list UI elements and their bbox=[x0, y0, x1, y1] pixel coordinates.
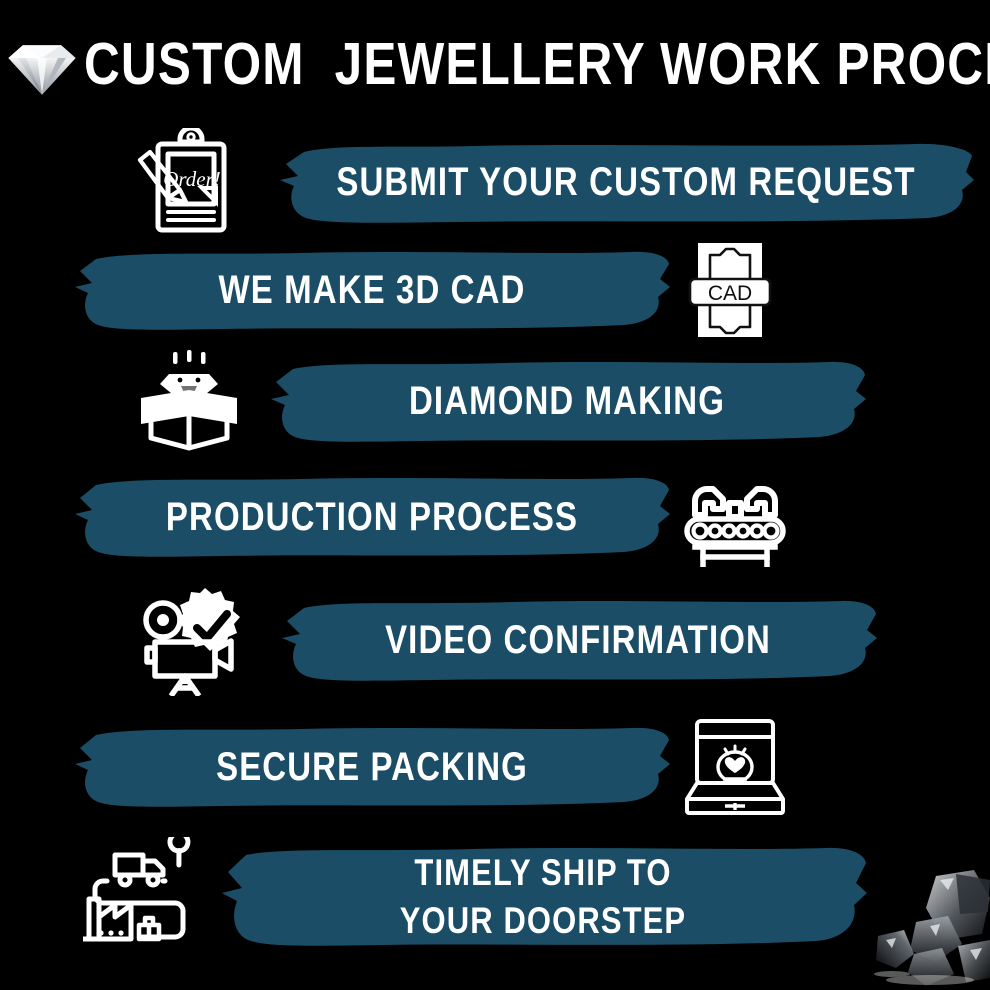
step-banner[interactable]: SUBMIT YOUR CUSTOM REQUEST bbox=[276, 132, 976, 232]
clipboard-order-icon: Order! bbox=[118, 128, 258, 236]
step-row: PRODUCTION PROCESS bbox=[0, 462, 990, 572]
step-row: VIDEO CONFIRMATION bbox=[0, 584, 990, 696]
step-label: SUBMIT YOUR CUSTOM REQUEST bbox=[336, 158, 915, 206]
clipboard-icon-text: Order! bbox=[163, 167, 221, 191]
step-row: TIMELY SHIP TO YOUR DOORSTEP bbox=[0, 832, 990, 962]
poster-header: CUSTOM JEWELLERY WORK PROCESS bbox=[0, 18, 990, 110]
step-banner[interactable]: SECURE PACKING bbox=[72, 717, 672, 817]
diamond-icon bbox=[2, 26, 82, 106]
cad-icon-text: CAD bbox=[708, 282, 752, 305]
step-label: WE MAKE 3D CAD bbox=[219, 266, 526, 314]
infographic-poster: CUSTOM JEWELLERY WORK PROCESS O bbox=[0, 0, 990, 990]
conveyor-robot-arms-icon bbox=[680, 467, 790, 567]
video-camera-check-icon bbox=[130, 584, 260, 696]
step-row: WE MAKE 3D CAD CAD bbox=[0, 236, 990, 344]
step-banner[interactable]: DIAMOND MAKING bbox=[267, 351, 867, 451]
step-label: VIDEO CONFIRMATION bbox=[385, 616, 771, 664]
step-banner[interactable]: PRODUCTION PROCESS bbox=[72, 467, 672, 567]
step-row: SECURE PACKING bbox=[0, 712, 990, 822]
step-row: Order! SUBMIT YOUR CUSTOM REQUEST bbox=[0, 128, 990, 236]
ring-box-icon bbox=[680, 717, 790, 817]
step-banner[interactable]: VIDEO CONFIRMATION bbox=[278, 590, 878, 690]
step-label: SECURE PACKING bbox=[216, 743, 528, 791]
step-label: TIMELY SHIP TO YOUR DOORSTEP bbox=[400, 849, 686, 946]
step-label: PRODUCTION PROCESS bbox=[166, 493, 578, 541]
diamond-box-icon bbox=[125, 346, 255, 456]
shipping-route-icon bbox=[78, 837, 208, 957]
cad-printer-icon: CAD bbox=[680, 241, 780, 339]
step-row: DIAMOND MAKING bbox=[0, 346, 990, 456]
step-label: DIAMOND MAKING bbox=[409, 377, 725, 425]
step-banner[interactable]: TIMELY SHIP TO YOUR DOORSTEP bbox=[218, 837, 868, 957]
step-banner[interactable]: WE MAKE 3D CAD bbox=[72, 241, 672, 339]
page-title: CUSTOM JEWELLERY WORK PROCESS bbox=[84, 35, 990, 94]
